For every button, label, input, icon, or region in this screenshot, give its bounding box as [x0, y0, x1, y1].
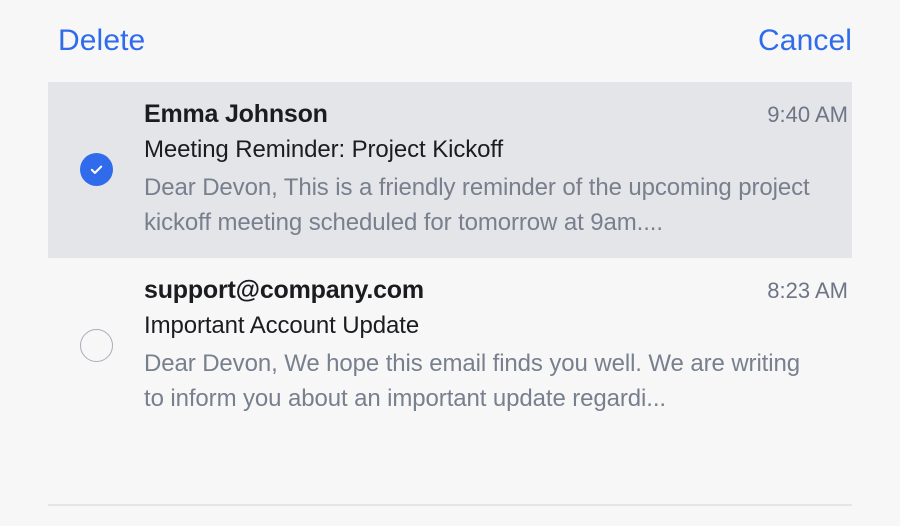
message-timestamp: 8:23 AM — [767, 276, 848, 305]
email-selection-screen: Delete Cancel Emma Johnson 9:40 AM Meeti… — [0, 0, 900, 526]
message-subject: Important Account Update — [144, 309, 848, 343]
list-bottom-divider — [48, 504, 852, 506]
message-timestamp: 9:40 AM — [767, 100, 848, 129]
message-subject: Meeting Reminder: Project Kickoff — [144, 133, 848, 167]
message-preview: Dear Devon, We hope this email finds you… — [144, 346, 824, 416]
checkbox-cell[interactable] — [48, 153, 144, 186]
message-list-item[interactable]: Emma Johnson 9:40 AM Meeting Reminder: P… — [48, 82, 852, 258]
message-sender: support@company.com — [144, 274, 424, 307]
checkbox-unchecked-icon[interactable] — [80, 329, 113, 362]
message-header-line: support@company.com 8:23 AM — [144, 274, 848, 307]
message-body: support@company.com 8:23 AM Important Ac… — [144, 274, 852, 416]
message-header-line: Emma Johnson 9:40 AM — [144, 98, 848, 131]
message-list: Emma Johnson 9:40 AM Meeting Reminder: P… — [0, 82, 900, 434]
checkbox-checked-icon[interactable] — [80, 153, 113, 186]
message-body: Emma Johnson 9:40 AM Meeting Reminder: P… — [144, 98, 852, 240]
delete-button[interactable]: Delete — [58, 26, 145, 56]
checkbox-cell[interactable] — [48, 329, 144, 362]
toolbar: Delete Cancel — [0, 0, 900, 82]
message-list-item[interactable]: support@company.com 8:23 AM Important Ac… — [48, 258, 852, 434]
message-preview: Dear Devon, This is a friendly reminder … — [144, 170, 824, 240]
cancel-button[interactable]: Cancel — [758, 26, 852, 56]
message-sender: Emma Johnson — [144, 98, 328, 131]
